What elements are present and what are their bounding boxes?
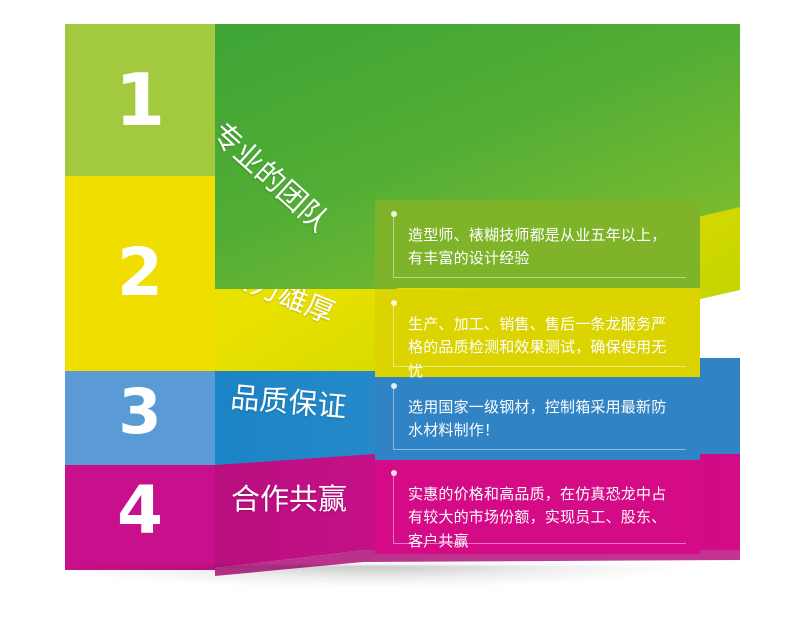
advantage-description-3: 选用国家一级钢材，控制箱采用最新防水材料制作！ <box>408 396 674 443</box>
step-number-4: 4 <box>117 478 163 544</box>
step-number-1: 1 <box>115 64 165 136</box>
step-number-square-2: 2 <box>65 175 215 371</box>
card-frame-3: 选用国家一级钢材，控制箱采用最新防水材料制作！ <box>393 386 686 450</box>
step-number-square-3: 3 <box>65 358 215 465</box>
step-number-3: 3 <box>118 381 161 443</box>
card-bullet-dot-1 <box>391 211 397 217</box>
advantage-card-1: 造型师、裱糊技师都是从业五年以上，有丰富的设计经验 <box>375 200 700 288</box>
stack-drop-shadow <box>70 565 670 587</box>
step-number-square-1: 1 <box>65 24 215 176</box>
advantage-description-2: 生产、加工、销售、售后一条龙服务严格的品质检测和效果测试，确保使用无忧 <box>408 313 674 383</box>
card-frame-4: 实惠的价格和高品质，在仿真恐龙中占有较大的市场份额，实现员工、股东、客户共赢 <box>393 473 686 544</box>
advantage-description-1: 造型师、裱糊技师都是从业五年以上，有丰富的设计经验 <box>408 224 674 271</box>
card-frame-1: 造型师、裱糊技师都是从业五年以上，有丰富的设计经验 <box>393 214 686 278</box>
ribbon-label-4: 合作共赢 <box>231 485 347 514</box>
step-number-square-4: 4 <box>65 452 215 570</box>
advantage-description-4: 实惠的价格和高品质，在仿真恐龙中占有较大的市场份额，实现员工、股东、客户共赢 <box>408 483 674 553</box>
step-number-2: 2 <box>117 240 163 306</box>
infographic-canvas: 我们的优势 <box>0 0 800 622</box>
card-frame-2: 生产、加工、销售、售后一条龙服务严格的品质检测和效果测试，确保使用无忧 <box>393 303 686 367</box>
